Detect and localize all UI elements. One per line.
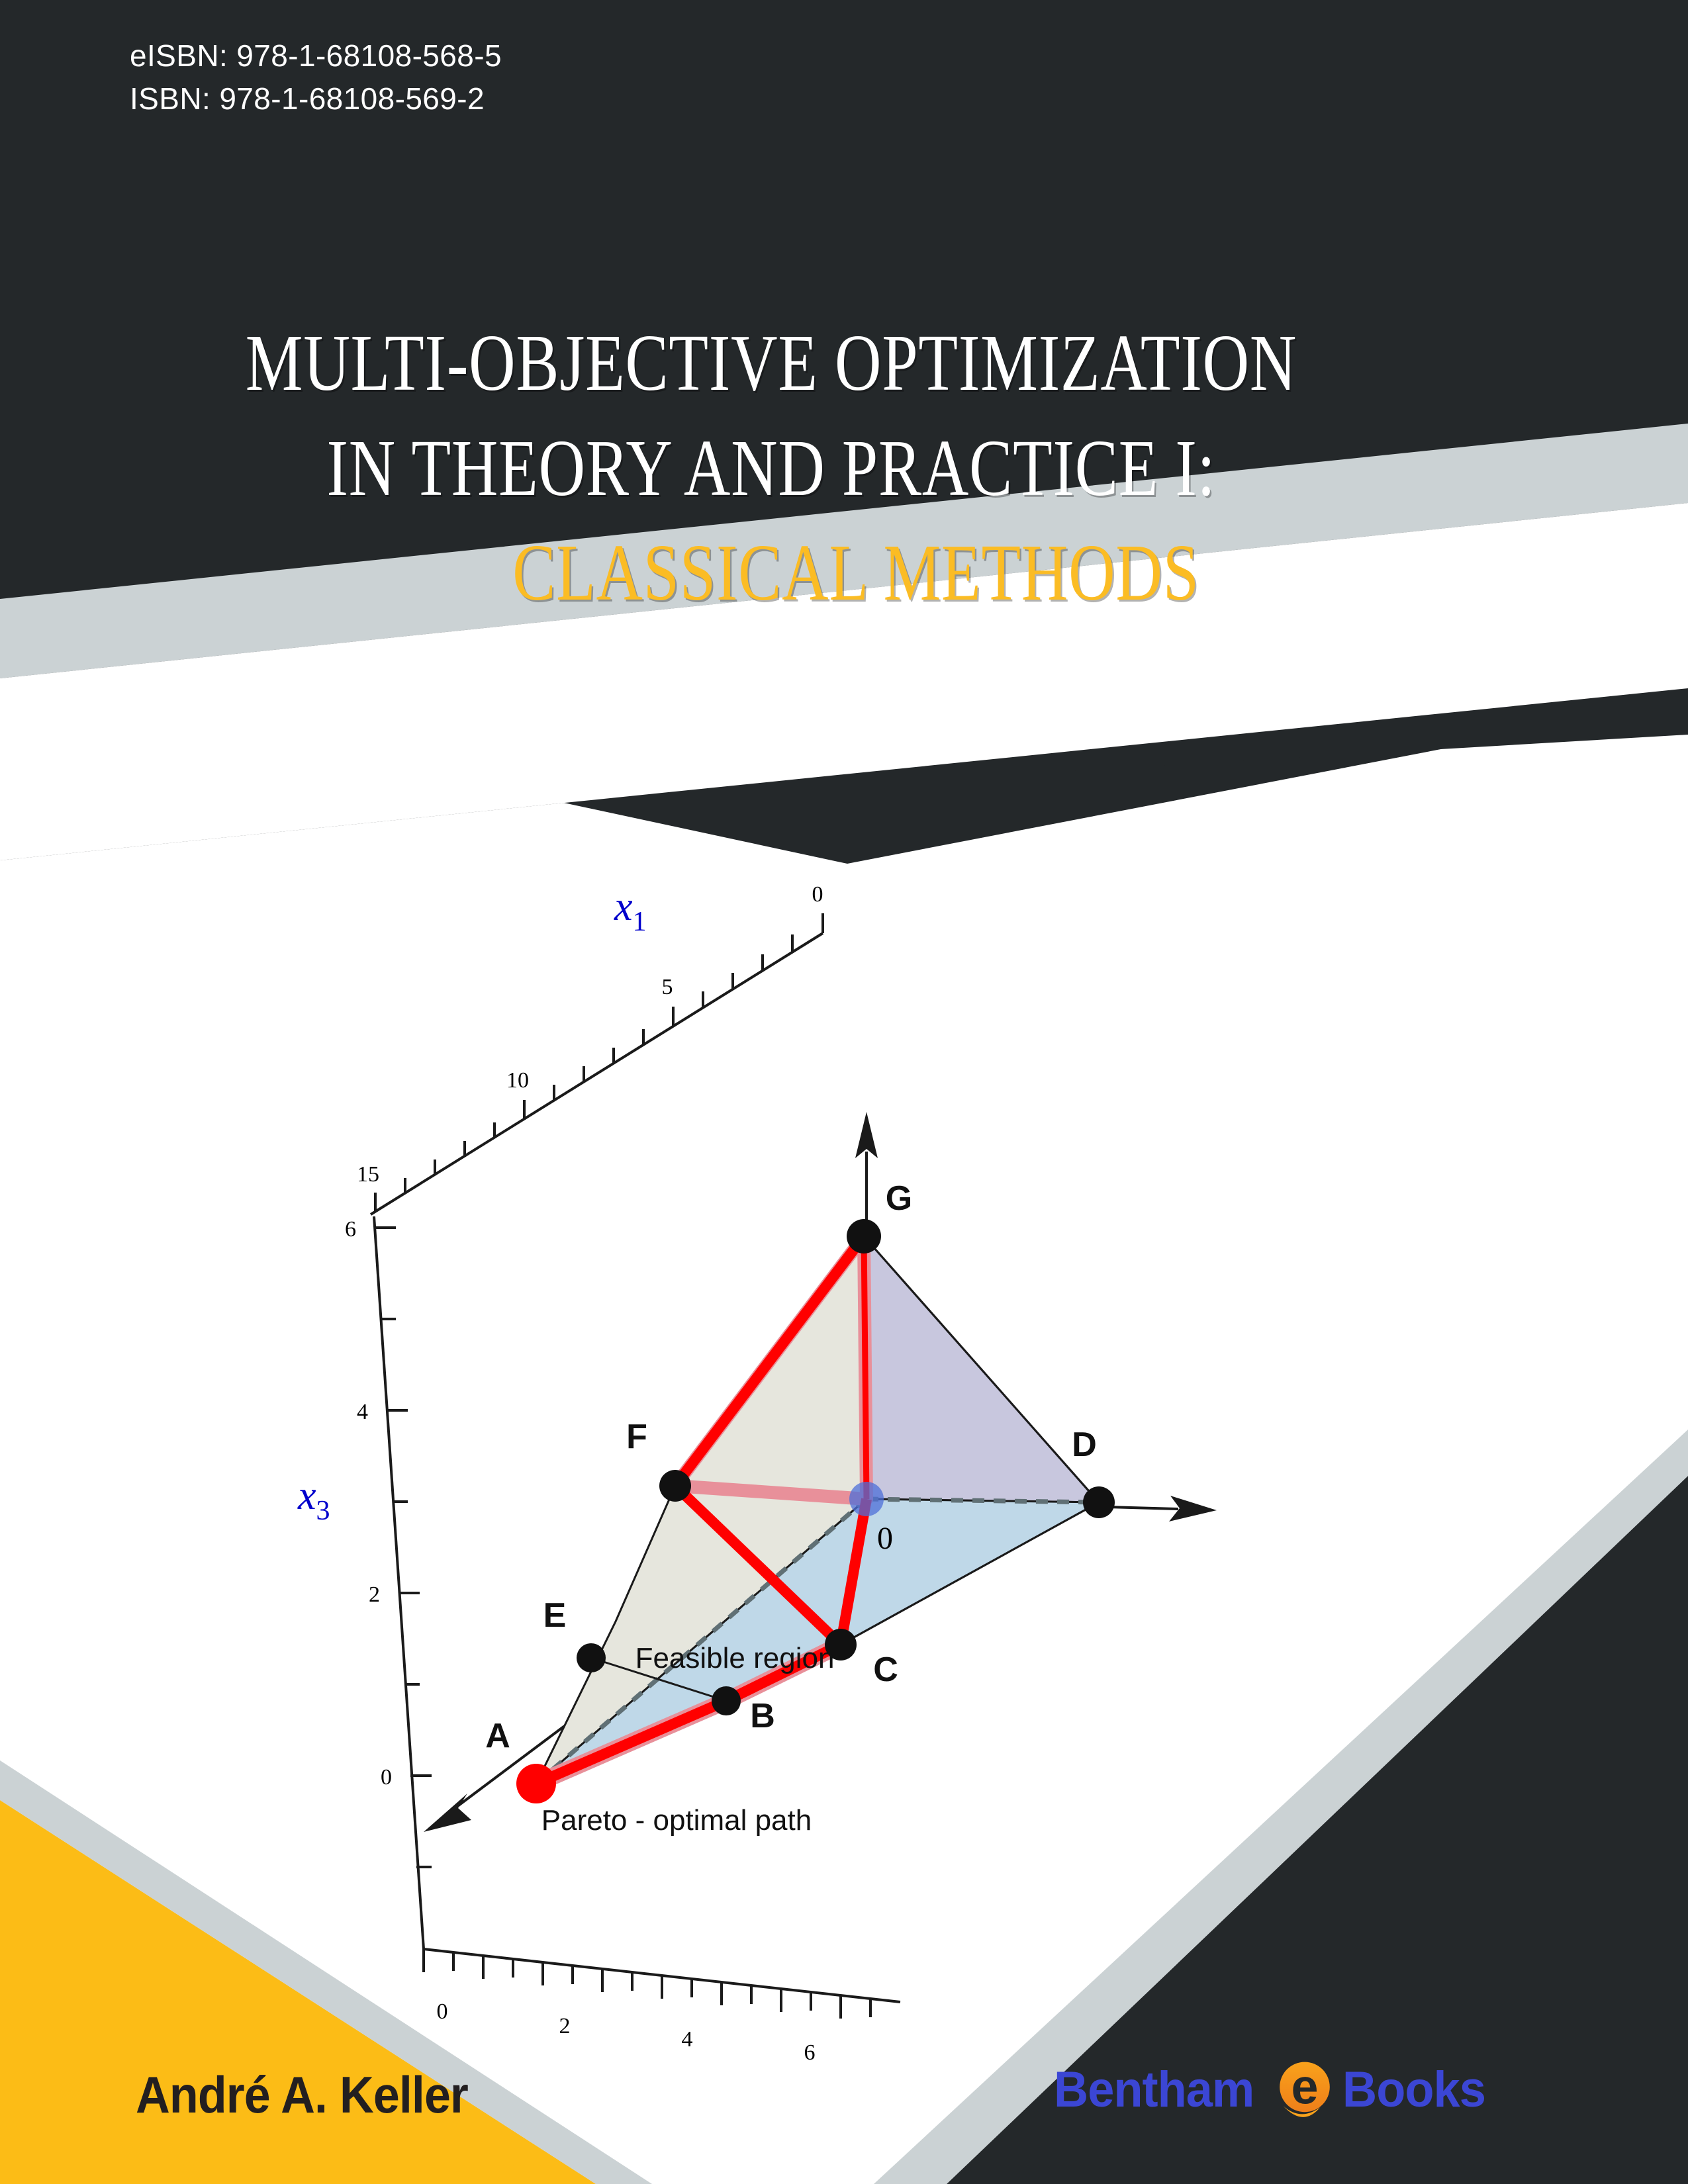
x1-tick-10: 10 xyxy=(506,1068,529,1093)
title-subtitle: CLASSICAL METHODS xyxy=(154,521,1388,626)
vertex-label-A: A xyxy=(485,1717,510,1755)
pareto-path-label: Pareto - optimal path xyxy=(541,1804,812,1837)
axis-x3: 6 4 2 0 x3 xyxy=(297,1216,432,1949)
vertex-label-D: D xyxy=(1072,1426,1097,1464)
origin-label: 0 xyxy=(877,1521,893,1556)
vertex-D-marker xyxy=(1083,1486,1115,1518)
x2-tick-6: 6 xyxy=(804,2040,816,2065)
vertex-F-marker xyxy=(659,1470,691,1502)
x3-tick-2: 2 xyxy=(369,1582,380,1607)
x2-tick-4: 4 xyxy=(682,2027,693,2052)
isbn-line: ISBN: 978-1-68108-569-2 xyxy=(130,77,502,120)
x3-tick-0: 0 xyxy=(381,1765,392,1790)
x3-tick-6: 6 xyxy=(345,1217,356,1242)
vertex-label-F: F xyxy=(626,1418,647,1456)
axis-x1: 0 5 10 15 x1 xyxy=(357,882,823,1214)
x1-axis-label: x1 xyxy=(614,884,647,937)
book-cover: eISBN: 978-1-68108-568-5 ISBN: 978-1-681… xyxy=(0,0,1688,2184)
x1-tick-5: 5 xyxy=(662,975,673,999)
publisher-word-books: Books xyxy=(1342,2061,1485,2118)
title-line-1: MULTI-OBJECTIVE OPTIMIZATION xyxy=(154,311,1388,416)
vertex-E-marker xyxy=(577,1643,606,1672)
bentham-e-icon: e xyxy=(1275,2060,1335,2119)
vertex-label-G: G xyxy=(886,1179,912,1218)
vertex-B-marker xyxy=(712,1686,741,1715)
pareto-vertical-G-origin xyxy=(864,1236,867,1499)
isbn-block: eISBN: 978-1-68108-568-5 ISBN: 978-1-681… xyxy=(130,34,502,121)
optimization-diagram: 0 5 10 15 x1 6 4 2 0 x3 xyxy=(0,847,1324,2071)
vertex-label-C: C xyxy=(873,1651,898,1689)
publisher-word-bentham: Bentham xyxy=(1054,2061,1254,2118)
x2-tick-2: 2 xyxy=(559,2014,571,2038)
origin-marker xyxy=(849,1482,884,1516)
svg-text:e: e xyxy=(1291,2060,1319,2115)
title-line-2: IN THEORY AND PRACTICE I: xyxy=(154,416,1388,522)
author-name: André A. Keller xyxy=(136,2065,468,2125)
vertex-A-marker xyxy=(516,1764,556,1803)
title-block: MULTI-OBJECTIVE OPTIMIZATION IN THEORY A… xyxy=(0,311,1542,626)
x3-axis-label: x3 xyxy=(297,1473,330,1526)
vertex-label-B: B xyxy=(750,1697,775,1735)
publisher-logo: Bentham e Books xyxy=(1054,2060,1493,2119)
x2-tick-0: 0 xyxy=(437,1999,448,2024)
x1-tick-0: 0 xyxy=(812,882,823,907)
x3-tick-4: 4 xyxy=(357,1400,368,1424)
x1-tick-15: 15 xyxy=(357,1162,379,1187)
eisbn-line: eISBN: 978-1-68108-568-5 xyxy=(130,34,502,77)
vertex-label-E: E xyxy=(543,1596,567,1635)
vertex-G-marker xyxy=(847,1219,881,1253)
feasible-region-label: Feasible region xyxy=(635,1642,835,1674)
polytope-faces xyxy=(536,1236,1099,1784)
axis-x2: 0 2 4 6 x2 xyxy=(424,1949,900,2071)
